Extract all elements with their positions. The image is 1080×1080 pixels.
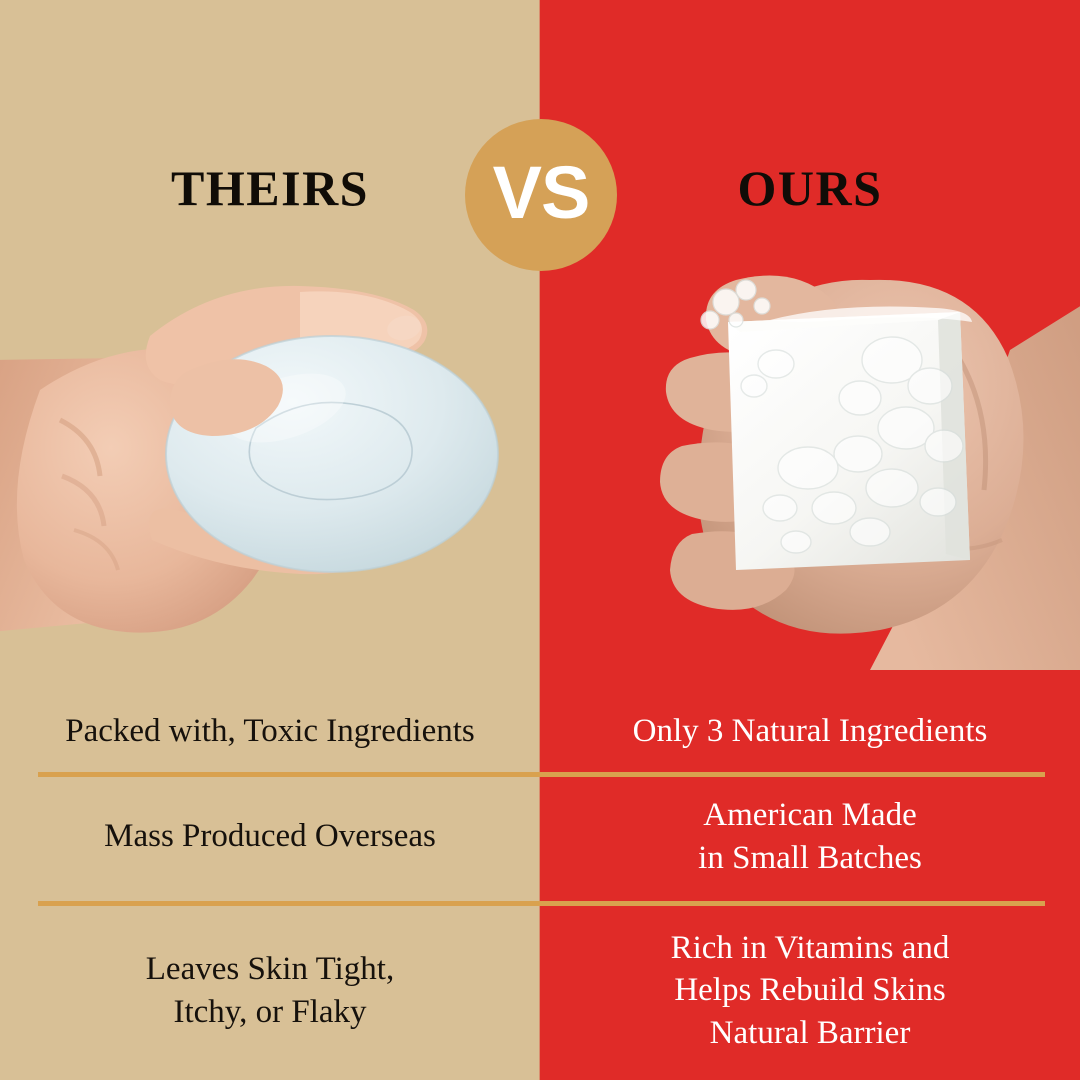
list-item-text: Packed with, Toxic Ingredients <box>65 710 475 752</box>
list-item: Leaves Skin Tight,Itchy, or Flaky <box>0 901 540 1080</box>
left-comparison-list: Packed with, Toxic Ingredients Mass Prod… <box>0 690 540 1080</box>
list-item: Rich in Vitamins andHelps Rebuild SkinsN… <box>540 901 1080 1080</box>
list-item-line: Packed with, Toxic Ingredients <box>65 713 475 749</box>
right-column-heading: OURS <box>540 163 1080 213</box>
list-item-line: in Small Batches <box>698 840 922 876</box>
vs-badge-label: VS <box>493 156 590 230</box>
list-item-line: Leaves Skin Tight, <box>146 951 394 987</box>
list-item: American Madein Small Batches <box>540 772 1080 901</box>
list-item: Packed with, Toxic Ingredients <box>0 690 540 772</box>
list-item: Mass Produced Overseas <box>0 772 540 901</box>
list-item-text: American Madein Small Batches <box>698 794 922 878</box>
list-item-text: Leaves Skin Tight,Itchy, or Flaky <box>146 948 394 1032</box>
right-comparison-list: Only 3 Natural Ingredients American Made… <box>540 690 1080 1080</box>
right-product-image <box>540 240 1080 670</box>
list-item-line: Mass Produced Overseas <box>104 818 436 854</box>
list-item-line: Natural Barrier <box>710 1015 911 1051</box>
list-item-line: Only 3 Natural Ingredients <box>633 713 988 749</box>
list-item-line: Itchy, or Flaky <box>173 994 366 1030</box>
hand-holding-square-soap-illustration <box>540 240 1080 670</box>
list-item-text: Mass Produced Overseas <box>104 815 436 857</box>
left-product-image <box>0 240 540 670</box>
list-item-text: Rich in Vitamins andHelps Rebuild SkinsN… <box>671 927 950 1054</box>
vs-badge: VS <box>465 119 617 271</box>
hand-holding-oval-soap-illustration <box>0 240 540 670</box>
comparison-graphic: THEIRS OURS VS Packed with, Toxic Ingred… <box>0 0 1080 1080</box>
list-item-text: Only 3 Natural Ingredients <box>633 710 988 752</box>
list-item-line: Helps Rebuild Skins <box>674 972 945 1008</box>
list-item-line: Rich in Vitamins and <box>671 930 950 966</box>
left-column-heading: THEIRS <box>0 163 540 213</box>
list-item-line: American Made <box>703 797 917 833</box>
list-item: Only 3 Natural Ingredients <box>540 690 1080 772</box>
